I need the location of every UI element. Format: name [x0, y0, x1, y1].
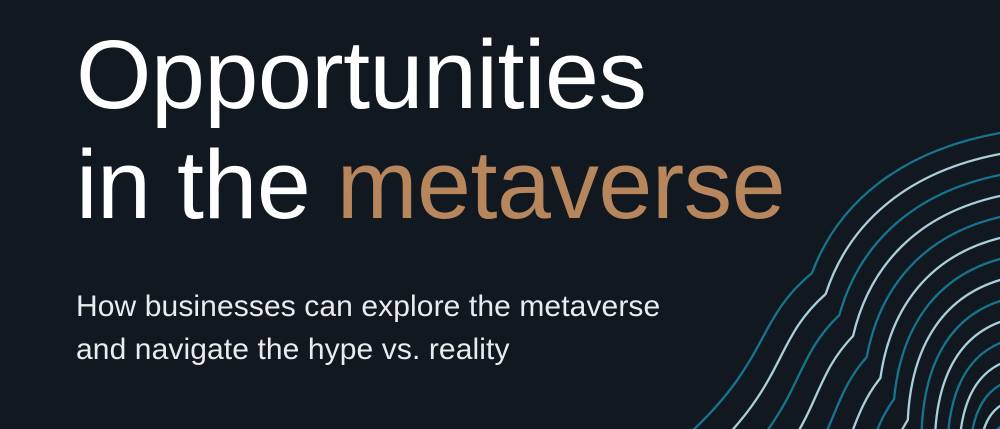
- page-subtitle-line-1: How businesses can explore the metaverse: [76, 285, 796, 328]
- wave-line: [785, 238, 1000, 429]
- page-subtitle: How businesses can explore the metaverse…: [76, 240, 796, 371]
- wave-line: [918, 385, 1000, 429]
- wave-line: [766, 217, 1000, 429]
- wave-line: [899, 364, 1000, 429]
- page-title: Opportunities in the metaverse: [76, 0, 796, 240]
- wave-line: [823, 280, 1000, 429]
- page-title-line-2-plain: in the: [76, 130, 337, 239]
- page-title-line-1: Opportunities: [76, 0, 796, 130]
- page-subtitle-line-2: and navigate the hype vs. reality: [76, 328, 796, 371]
- wave-line: [880, 343, 1000, 429]
- wave-line: [842, 301, 1000, 429]
- wave-line: [804, 259, 1000, 429]
- cover-text-block: Opportunities in the metaverse How busin…: [76, 0, 796, 371]
- wave-line: [861, 322, 1000, 429]
- cover-banner: Opportunities in the metaverse How busin…: [0, 0, 1000, 429]
- page-title-accent-metaverse: metaverse: [337, 130, 785, 239]
- wave-line: [937, 406, 1000, 429]
- page-title-line-2: in the metaverse: [76, 130, 796, 240]
